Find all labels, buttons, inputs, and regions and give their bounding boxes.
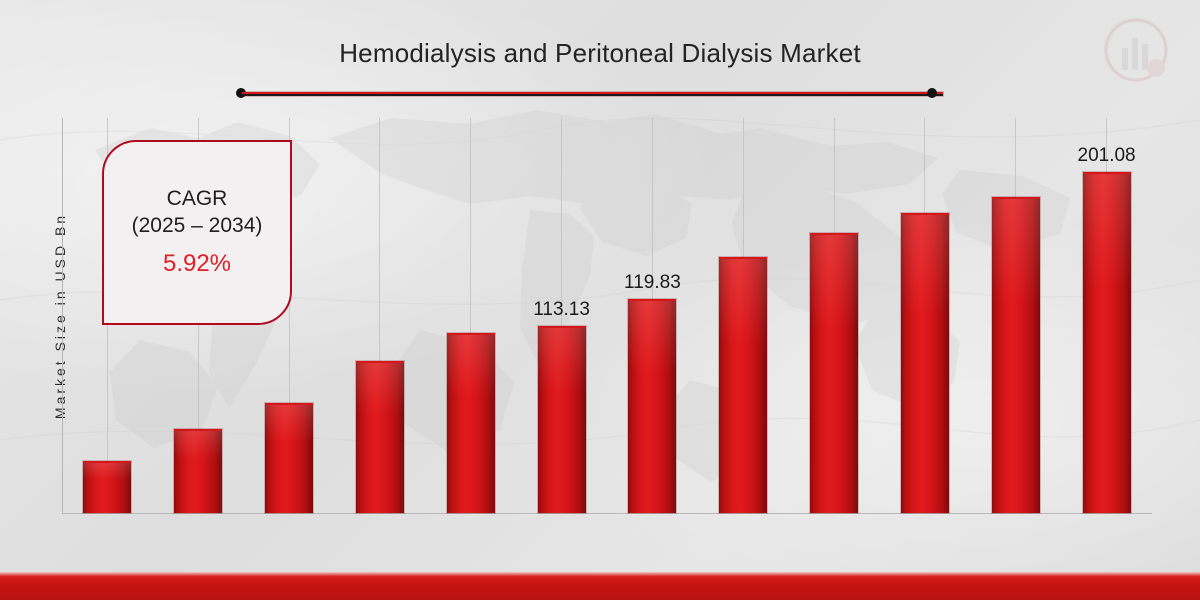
bar-group-2033[interactable]: 2033 bbox=[992, 118, 1040, 513]
chart-container: Hemodialysis and Peritoneal Dialysis Mar… bbox=[0, 0, 1200, 600]
title-rule-line bbox=[242, 92, 943, 97]
bar-group-2032[interactable]: 2032 bbox=[901, 118, 949, 513]
x-axis-line bbox=[62, 513, 1152, 514]
footer-accent-bar bbox=[0, 572, 1200, 600]
bar-2024[interactable] bbox=[538, 326, 586, 513]
cagr-value: 5.92% bbox=[163, 250, 231, 278]
bar-2023[interactable] bbox=[447, 333, 495, 513]
bar-group-2026[interactable]: 2026 bbox=[719, 118, 767, 513]
title-rule-dot-right bbox=[927, 88, 937, 98]
bar-group-2031[interactable]: 2031 bbox=[810, 118, 858, 513]
bar-2022[interactable] bbox=[356, 361, 404, 513]
cagr-callout: CAGR (2025 – 2034) 5.92% bbox=[102, 140, 292, 325]
bar-group-2024[interactable]: 113.132024 bbox=[538, 118, 586, 513]
cagr-period: (2025 – 2034) bbox=[132, 213, 263, 239]
bar-value-label-2034: 201.08 bbox=[1078, 145, 1136, 167]
bar-2019[interactable] bbox=[174, 429, 222, 513]
bar-2021[interactable] bbox=[265, 403, 313, 513]
bar-value-label-2025: 119.83 bbox=[624, 272, 681, 294]
cagr-label: CAGR bbox=[167, 187, 228, 211]
title-underline-rule bbox=[236, 90, 937, 95]
bar-group-2022[interactable]: 2022 bbox=[356, 118, 404, 513]
bar-group-2025[interactable]: 119.832025 bbox=[628, 118, 676, 513]
bar-2034[interactable] bbox=[1083, 172, 1131, 513]
bar-2031[interactable] bbox=[810, 233, 858, 513]
bar-2026[interactable] bbox=[719, 257, 767, 513]
bar-2018[interactable] bbox=[83, 461, 131, 513]
bar-2033[interactable] bbox=[992, 197, 1040, 513]
bar-2025[interactable] bbox=[628, 299, 676, 513]
bar-group-2034[interactable]: 201.082034 bbox=[1083, 118, 1131, 513]
bar-group-2023[interactable]: 2023 bbox=[447, 118, 495, 513]
page-title: Hemodialysis and Peritoneal Dialysis Mar… bbox=[0, 38, 1200, 69]
bar-2032[interactable] bbox=[901, 213, 949, 513]
bar-value-label-2024: 113.13 bbox=[533, 299, 590, 321]
